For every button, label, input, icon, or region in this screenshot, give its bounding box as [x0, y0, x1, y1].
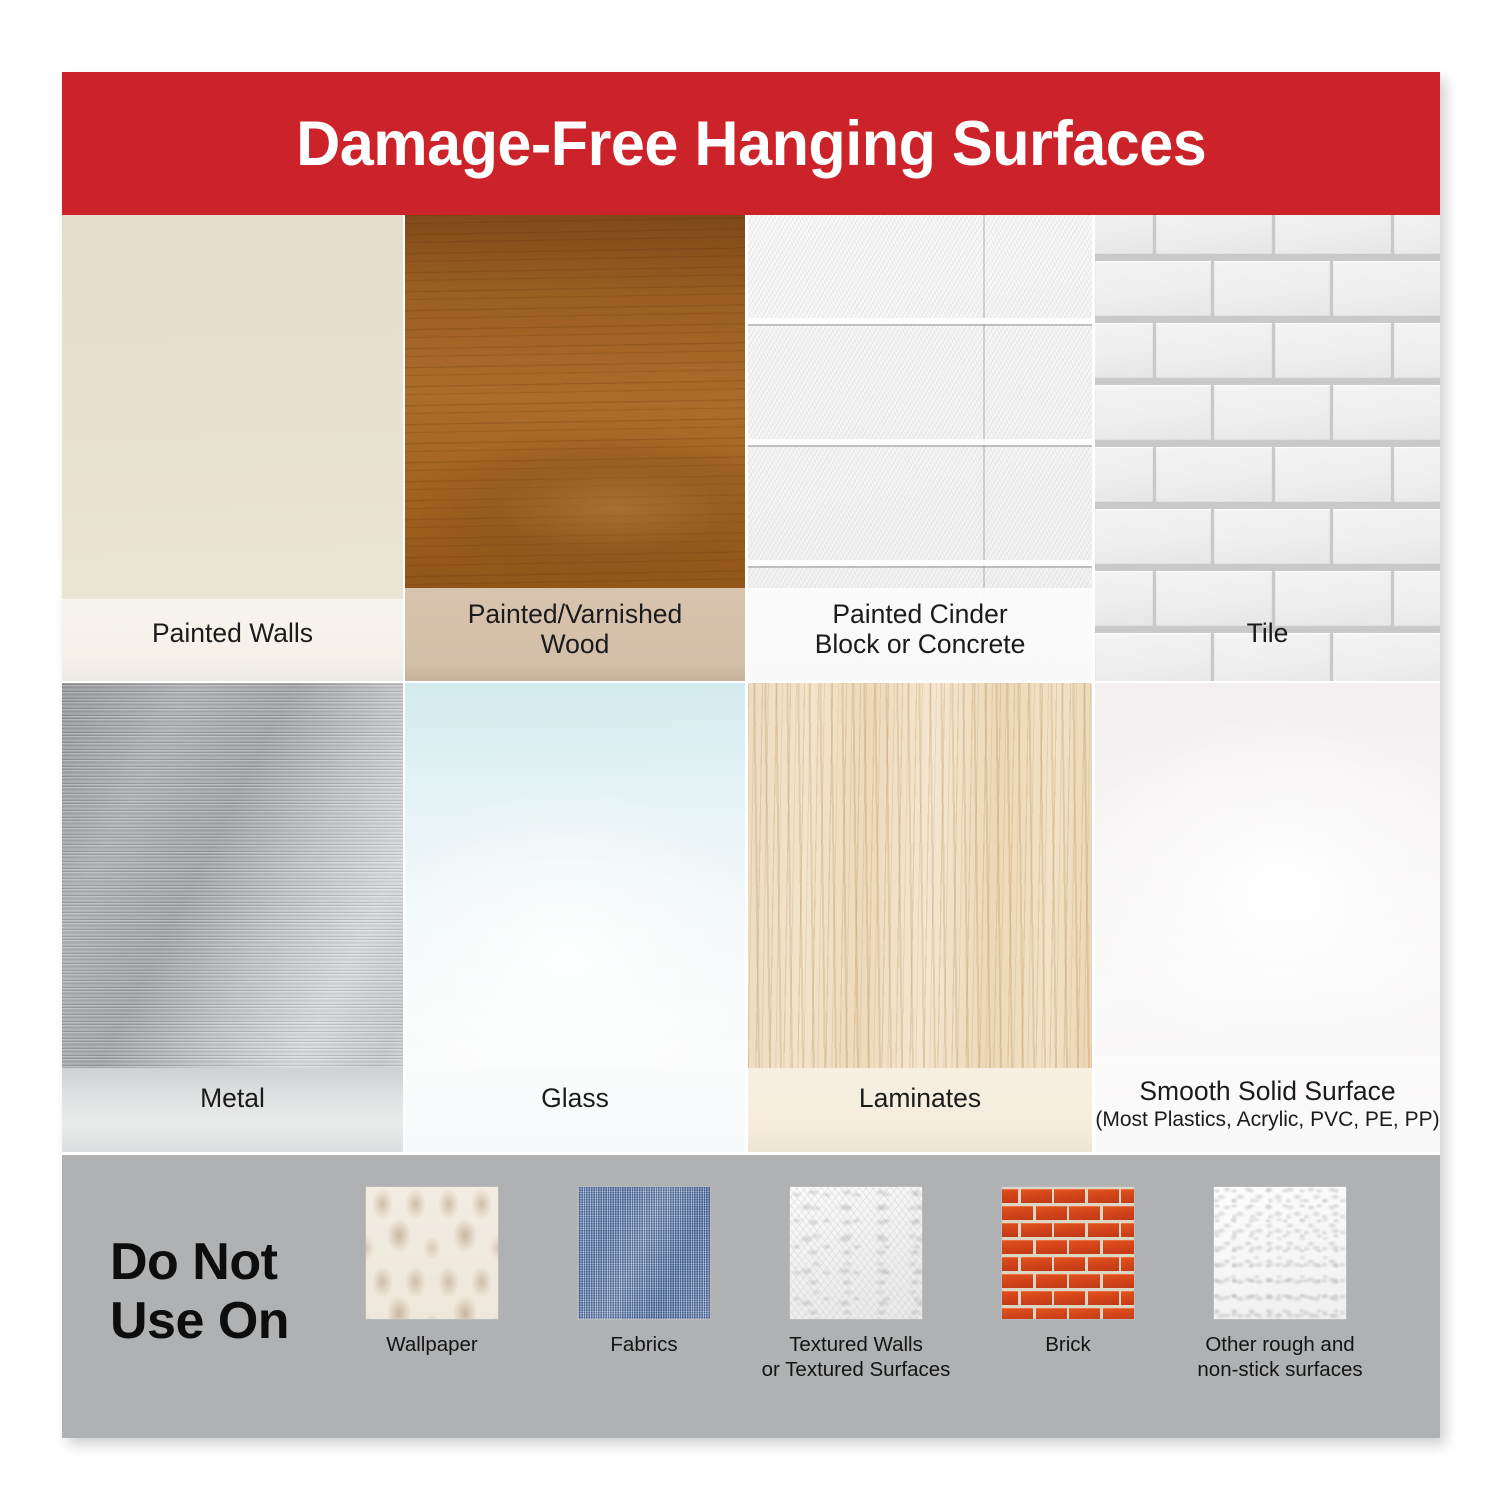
tile-unit	[1214, 509, 1330, 565]
brick-unit	[1054, 1291, 1085, 1305]
surface-cell-laminates: Laminates	[748, 683, 1092, 1152]
brick-unit	[1088, 1189, 1119, 1203]
surface-label-painted-walls: Painted Walls	[62, 619, 403, 655]
tile-unit	[1095, 509, 1211, 565]
surface-cell-glass: Glass	[405, 683, 745, 1152]
surface-cell-smooth-solid-surface: Smooth Solid Surface (Most Plastics, Acr…	[1095, 683, 1440, 1152]
tile-unit	[1156, 215, 1272, 255]
brick-row	[1002, 1255, 1134, 1272]
do-not-use-item-other-rough: Other rough and non-stick surfaces	[1182, 1187, 1378, 1382]
brick-row	[1002, 1238, 1134, 1255]
tile-unit	[1394, 215, 1440, 255]
brick-unit	[1103, 1240, 1134, 1254]
brick-row	[1002, 1306, 1134, 1319]
brick-unit	[1121, 1189, 1134, 1203]
fabrics-swatch	[578, 1187, 710, 1319]
brick-unit	[1069, 1240, 1100, 1254]
tile-unit	[1333, 509, 1440, 565]
brick-row	[1002, 1187, 1134, 1204]
wallpaper-swatch	[366, 1187, 498, 1319]
do-not-use-heading-line1: Do Not	[110, 1233, 360, 1292]
surface-cell-tile: Tile	[1095, 215, 1440, 681]
brick-unit	[1069, 1206, 1100, 1220]
brick-unit	[1088, 1223, 1119, 1237]
do-not-use-label-fabrics: Fabrics	[546, 1333, 742, 1358]
do-not-use-label-brick: Brick	[970, 1333, 1166, 1358]
tile-unit	[1214, 385, 1330, 441]
brick-row	[1002, 1272, 1134, 1289]
brick-unit	[1021, 1223, 1052, 1237]
brick-unit	[1069, 1274, 1100, 1288]
tile-unit	[1156, 323, 1272, 379]
tile-unit	[1275, 215, 1391, 255]
brick-unit	[1054, 1257, 1085, 1271]
approved-surfaces-grid: Painted Walls Painted/Varnished Wood Pai…	[62, 215, 1440, 1152]
tile-unit	[1394, 323, 1440, 379]
tile-unit	[1214, 261, 1330, 317]
surface-cell-painted-walls: Painted Walls	[62, 215, 403, 681]
brick-unit	[1103, 1206, 1134, 1220]
tile-row	[1095, 445, 1440, 507]
tile-row	[1095, 321, 1440, 383]
tile-unit	[1333, 261, 1440, 317]
surface-label-painted-varnished-wood: Painted/Varnished Wood	[405, 600, 745, 667]
tile-row	[1095, 507, 1440, 569]
do-not-use-item-textured-walls: Textured Walls or Textured Surfaces	[758, 1187, 954, 1382]
surface-cell-painted-varnished-wood: Painted/Varnished Wood	[405, 215, 745, 681]
tile-unit	[1095, 261, 1211, 317]
brick-unit	[1054, 1189, 1085, 1203]
do-not-use-heading: Do Not Use On	[110, 1233, 360, 1352]
brick-unit	[1088, 1291, 1119, 1305]
textured-wall-swatch	[790, 1187, 922, 1319]
surface-label-tile: Tile	[1095, 619, 1440, 655]
do-not-use-item-fabrics: Fabrics	[546, 1187, 742, 1358]
tile-row	[1095, 215, 1440, 259]
brick-unit	[1036, 1206, 1067, 1220]
surface-cell-metal: Metal	[62, 683, 403, 1152]
brick-row	[1002, 1221, 1134, 1238]
brick-unit	[1021, 1257, 1052, 1271]
brick-swatch	[1002, 1187, 1134, 1319]
brick-unit	[1103, 1308, 1134, 1320]
brick-unit	[1121, 1223, 1134, 1237]
tile-row	[1095, 259, 1440, 321]
do-not-use-label-other-rough: Other rough and non-stick surfaces	[1182, 1333, 1378, 1382]
tile-unit	[1095, 385, 1211, 441]
title-banner: Damage-Free Hanging Surfaces	[62, 72, 1440, 215]
brick-unit	[1002, 1274, 1033, 1288]
brick-unit	[1103, 1274, 1134, 1288]
brick-unit	[1036, 1240, 1067, 1254]
do-not-use-item-wallpaper: Wallpaper	[334, 1187, 530, 1358]
brick-unit	[1036, 1274, 1067, 1288]
brick-unit	[1002, 1257, 1018, 1271]
tile-unit	[1095, 215, 1153, 255]
tile-unit	[1095, 447, 1153, 503]
brick-unit	[1121, 1291, 1134, 1305]
do-not-use-item-brick: Brick	[970, 1187, 1166, 1358]
do-not-use-items: Wallpaper Fabrics Textured Walls or Text…	[334, 1155, 1440, 1438]
brick-unit	[1002, 1223, 1018, 1237]
tile-row	[1095, 383, 1440, 445]
brick-unit	[1002, 1308, 1033, 1320]
do-not-use-band: Do Not Use On Wallpaper Fabrics Textured…	[62, 1155, 1440, 1438]
tile-unit	[1275, 447, 1391, 503]
do-not-use-label-textured-walls: Textured Walls or Textured Surfaces	[758, 1333, 954, 1382]
surface-label-smooth-solid-surface: Smooth Solid Surface (Most Plastics, Acr…	[1095, 1077, 1440, 1138]
do-not-use-heading-line2: Use On	[110, 1292, 360, 1351]
surface-label-laminates: Laminates	[748, 1084, 1092, 1120]
brick-unit	[1002, 1206, 1033, 1220]
tile-swatch	[1095, 215, 1440, 681]
tile-unit	[1156, 447, 1272, 503]
brick-unit	[1002, 1291, 1018, 1305]
brick-unit	[1069, 1308, 1100, 1320]
brick-unit	[1088, 1257, 1119, 1271]
surface-label-metal: Metal	[62, 1084, 403, 1120]
brick-unit	[1002, 1240, 1033, 1254]
tile-unit	[1333, 385, 1440, 441]
brick-unit	[1021, 1189, 1052, 1203]
tile-unit	[1095, 323, 1153, 379]
brick-unit	[1054, 1223, 1085, 1237]
brick-row	[1002, 1204, 1134, 1221]
brick-unit	[1121, 1257, 1134, 1271]
brick-unit	[1036, 1308, 1067, 1320]
tile-unit	[1275, 323, 1391, 379]
tile-unit	[1394, 447, 1440, 503]
surface-label-glass: Glass	[405, 1084, 745, 1120]
rough-surface-swatch	[1214, 1187, 1346, 1319]
brick-unit	[1021, 1291, 1052, 1305]
surface-cell-painted-cinder-block: Painted Cinder Block or Concrete	[748, 215, 1092, 681]
surface-label-painted-cinder-block: Painted Cinder Block or Concrete	[748, 600, 1092, 667]
do-not-use-label-wallpaper: Wallpaper	[334, 1333, 530, 1358]
page-title: Damage-Free Hanging Surfaces	[296, 108, 1206, 180]
infographic-poster: Damage-Free Hanging Surfaces Painted Wal…	[62, 72, 1440, 1438]
brick-row	[1002, 1289, 1134, 1306]
brick-unit	[1002, 1189, 1018, 1203]
